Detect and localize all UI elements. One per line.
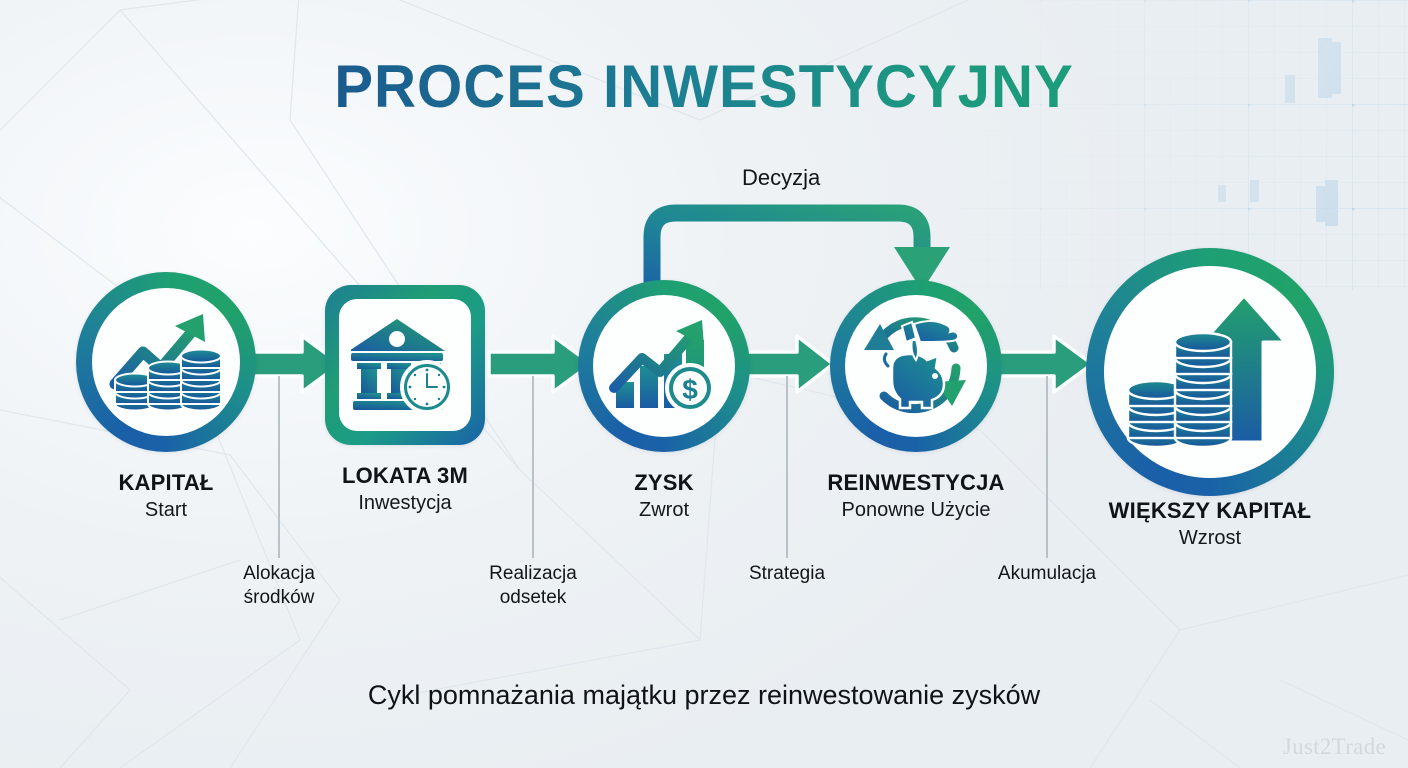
coins-up-arrow-icon [1125,292,1295,452]
decision-loop-arrow [630,185,960,295]
connector-arrow-4 [988,332,1096,396]
step-shape-circle [830,280,1002,452]
connector-label-line1: Realizacja [423,562,643,586]
step-caption-reinwestycja: REINWESTYCJA Ponowne Użycie [766,470,1066,522]
connector-label-line2: odsetek [423,586,643,610]
connector-sublabel-text: Strategia [677,562,897,586]
step-subtitle: Wzrost [1060,527,1360,550]
step-node-wiekszy-kapital[interactable]: WIĘKSZY KAPITAŁ Wzrost [1086,248,1334,496]
tick-line [278,376,280,558]
step-node-zysk[interactable]: $ ZYSK Zwrot [578,280,750,452]
infographic-canvas: PROCES INWESTYCYJNY [0,0,1408,768]
growth-chart-coins-icon [107,308,225,416]
bottom-caption: Cykl pomnażania majątku przez reinwestow… [0,680,1408,711]
step-title: LOKATA 3M [255,463,555,489]
step-node-kapital[interactable]: KAPITAŁ Start [76,272,256,452]
connector-label-line1: Alokacja [169,562,389,586]
bank-clock-icon [351,315,459,415]
step-subtitle: Inwestycja [255,492,555,515]
connector-sublabel-text: Akumulacja [937,562,1157,586]
bar-chart-dollar-icon: $ [608,316,720,416]
connector-label-line2: środków [169,586,389,610]
watermark-just2trade: Just2Trade [1283,734,1386,760]
tick-line [1046,376,1048,558]
step-title: WIĘKSZY KAPITAŁ [1060,498,1360,524]
connector-sublabel-text: Alokacja środków [169,562,389,610]
tick-line [532,376,534,558]
process-flow: Decyzja [0,0,1408,768]
connector-label-line1: Strategia [677,562,897,586]
tick-line [786,376,788,558]
step-subtitle: Ponowne Użycie [766,499,1066,522]
step-caption-wiekszy-kapital: WIĘKSZY KAPITAŁ Wzrost [1060,498,1360,550]
step-shape-rounded-square [325,285,485,445]
connector-arrow-3 [739,332,837,396]
piggy-bank-recycle-icon [858,310,974,422]
step-shape-circle: $ [578,280,750,452]
connector-sublabel-text: Realizacja odsetek [423,562,643,610]
step-title: REINWESTYCJA [766,470,1066,496]
step-node-lokata[interactable]: LOKATA 3M Inwestycja [325,285,485,445]
decision-label: Decyzja [742,165,820,191]
step-shape-circle [76,272,256,452]
step-caption-lokata: LOKATA 3M Inwestycja [255,463,555,515]
connector-label-line1: Akumulacja [937,562,1157,586]
step-node-reinwestycja[interactable]: REINWESTYCJA Ponowne Użycie [830,280,1002,452]
step-shape-circle [1086,248,1334,496]
svg-text:$: $ [682,374,698,405]
